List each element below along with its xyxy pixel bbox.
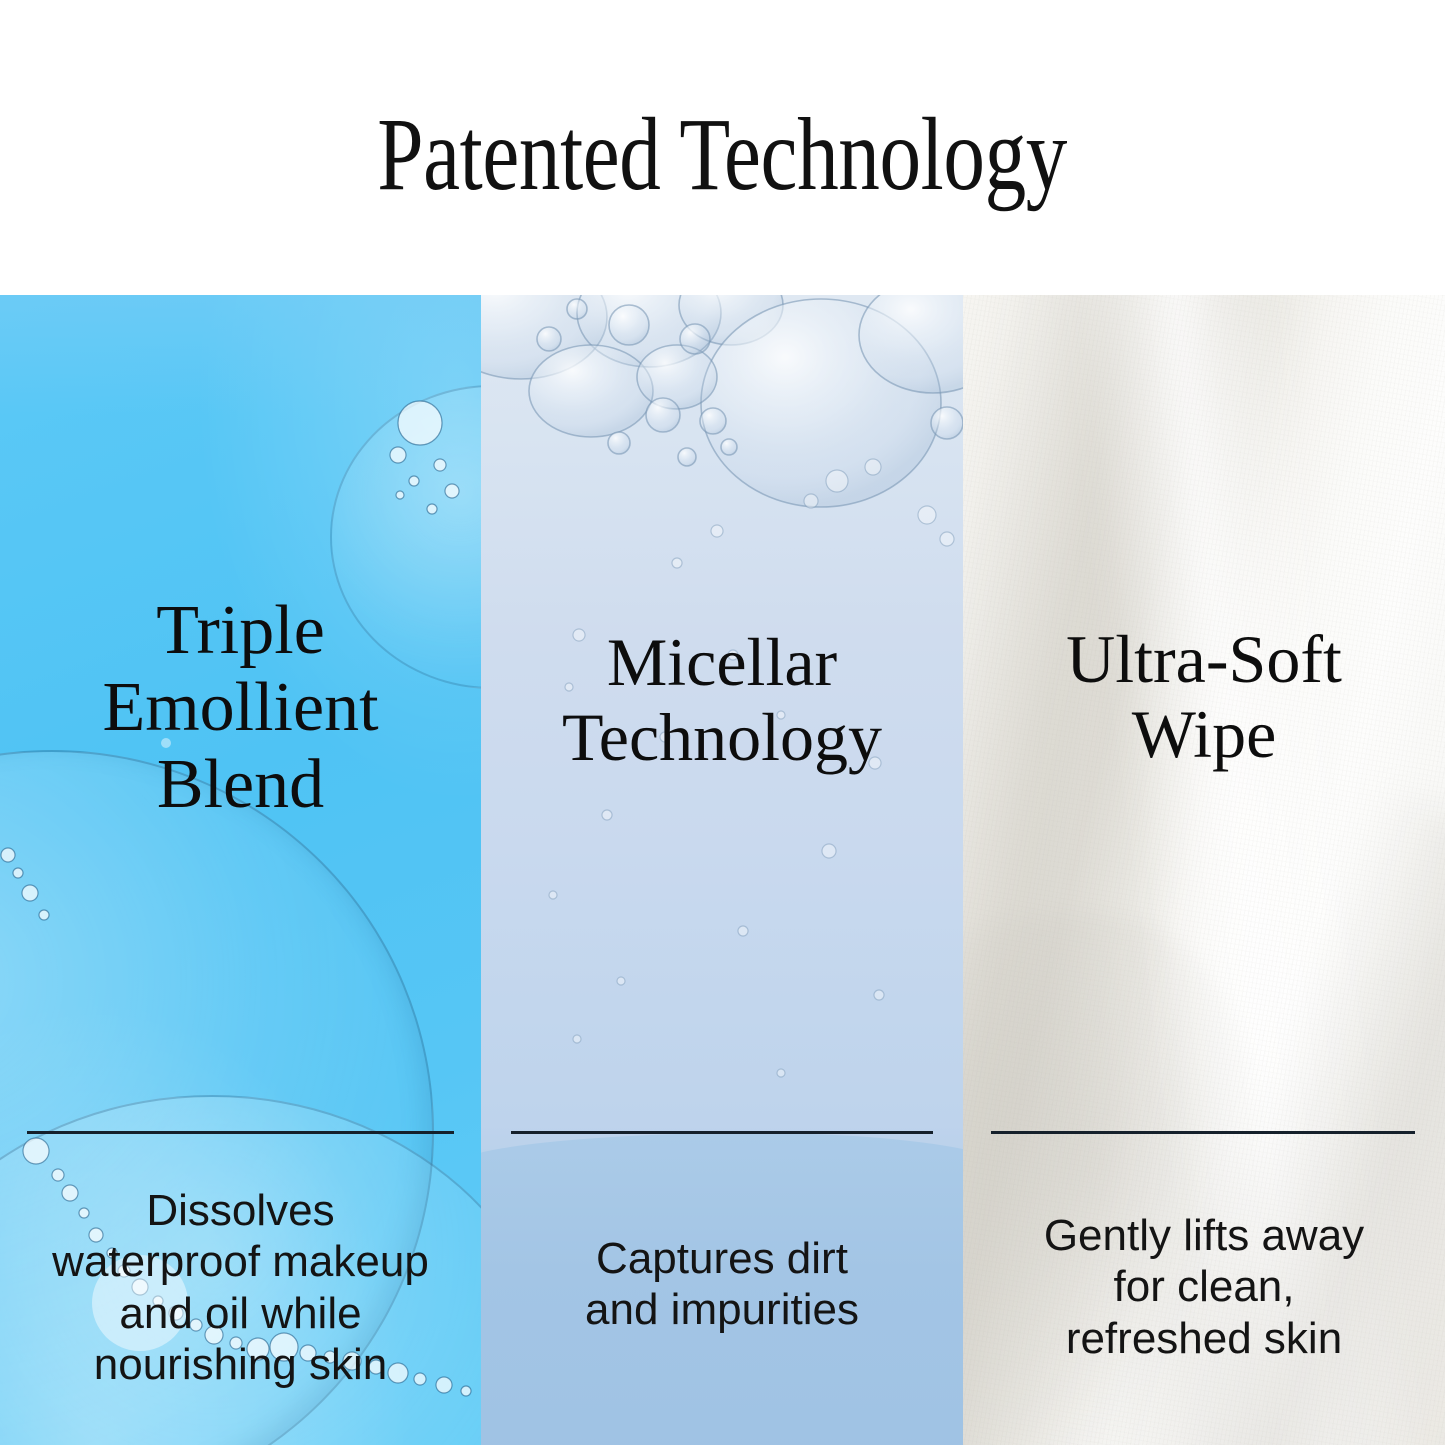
panel-3-caption-line-1: Gently lifts away — [973, 1210, 1435, 1261]
panel-3-divider — [991, 1131, 1415, 1134]
feature-panel-strip: Triple Emollient Blend Dissolves waterpr… — [0, 295, 1445, 1445]
panel-1-heading-line-2: Emollient — [18, 669, 463, 746]
panel-1-content: Triple Emollient Blend Dissolves waterpr… — [0, 295, 481, 1445]
panel-1-caption-line-1: Dissolves — [10, 1185, 471, 1236]
panel-2-caption-line-1: Captures dirt — [491, 1233, 953, 1284]
panel-1-heading-line-3: Blend — [18, 746, 463, 823]
panel-2-heading-line-1: Micellar — [499, 625, 945, 700]
panel-2-heading-line-2: Technology — [499, 700, 945, 775]
panel-3-caption: Gently lifts away for clean, refreshed s… — [963, 1210, 1445, 1364]
feature-panel-ultra-soft-wipe: Ultra-Soft Wipe Gently lifts away for cl… — [963, 295, 1445, 1445]
panel-3-content: Ultra-Soft Wipe Gently lifts away for cl… — [963, 295, 1445, 1445]
feature-panel-micellar-technology: Micellar Technology Captures dirt and im… — [481, 295, 963, 1445]
panel-1-caption-line-2: waterproof makeup — [10, 1236, 471, 1287]
panel-2-divider — [511, 1131, 933, 1134]
panel-3-caption-line-3: refreshed skin — [973, 1313, 1435, 1364]
page-title: Patented Technology — [378, 103, 1068, 207]
panel-2-heading: Micellar Technology — [481, 625, 963, 775]
panel-1-divider — [27, 1131, 454, 1134]
panel-1-caption-line-4: nourishing skin — [10, 1339, 471, 1390]
header-band: Patented Technology — [0, 0, 1445, 295]
infographic-page: Patented Technology — [0, 0, 1445, 1445]
panel-2-caption: Captures dirt and impurities — [481, 1233, 963, 1336]
panel-2-caption-line-2: and impurities — [491, 1284, 953, 1335]
panel-3-heading: Ultra-Soft Wipe — [963, 622, 1445, 772]
panel-1-heading: Triple Emollient Blend — [0, 592, 481, 823]
panel-2-content: Micellar Technology Captures dirt and im… — [481, 295, 963, 1445]
panel-3-heading-line-1: Ultra-Soft — [981, 622, 1427, 697]
panel-3-heading-line-2: Wipe — [981, 697, 1427, 772]
panel-1-caption-line-3: and oil while — [10, 1288, 471, 1339]
panel-1-heading-line-1: Triple — [18, 592, 463, 669]
panel-1-caption: Dissolves waterproof makeup and oil whil… — [0, 1185, 481, 1391]
panel-3-caption-line-2: for clean, — [973, 1261, 1435, 1312]
feature-panel-triple-emollient-blend: Triple Emollient Blend Dissolves waterpr… — [0, 295, 481, 1445]
